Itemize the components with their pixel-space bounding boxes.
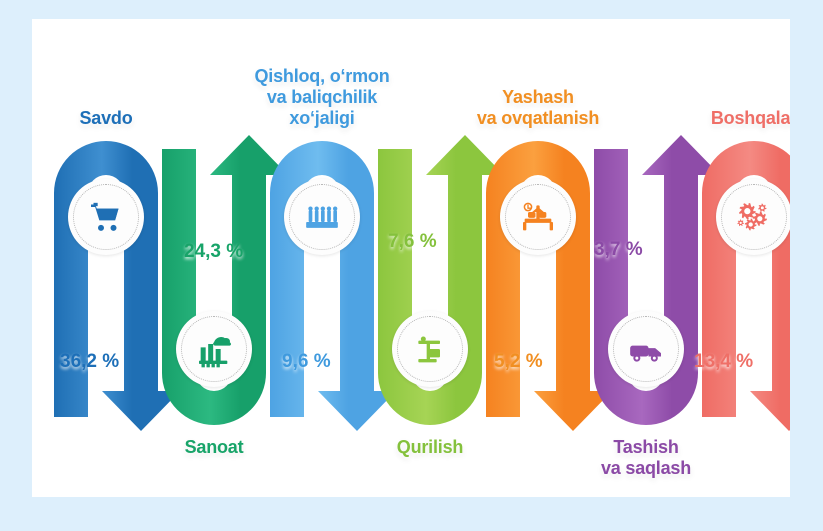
icon-badge-qishloq[interactable] — [284, 179, 360, 255]
section-label-savdo: Savdo — [32, 108, 201, 129]
crops-icon — [302, 197, 342, 237]
pct-boshqalar: 13,4 % — [694, 351, 753, 373]
section-label-yashash: Yashash va ovqatlanish — [443, 87, 633, 129]
icon-badge-boshqalar[interactable] — [716, 179, 790, 255]
infographic-stage: SavdoSanoatQishloq, o‘rmon va baliqchili… — [32, 19, 790, 497]
pct-savdo: 36,2 % — [60, 351, 119, 373]
gears-icon — [734, 197, 774, 237]
section-label-boshqalar: Boshqalar — [659, 108, 790, 129]
infographic-card: SavdoSanoatQishloq, o‘rmon va baliqchili… — [32, 19, 790, 497]
factory-icon — [194, 329, 234, 369]
truck-icon — [626, 329, 666, 369]
pct-yashash: 5,2 % — [494, 351, 543, 373]
icon-badge-savdo[interactable] — [68, 179, 144, 255]
hotel-bed-clock-icon — [518, 197, 558, 237]
section-label-qishloq: Qishloq, o‘rmon va baliqchilik xo‘jaligi — [227, 66, 417, 129]
pct-qurilish: 7,6 % — [388, 231, 437, 253]
icon-badge-sanoat[interactable] — [176, 311, 252, 387]
pct-qishloq: 9,6 % — [282, 351, 331, 373]
icon-badge-yashash[interactable] — [500, 179, 576, 255]
icon-badge-tashish[interactable] — [608, 311, 684, 387]
shopping-cart-icon — [86, 197, 126, 237]
pct-sanoat: 24,3 % — [184, 241, 243, 263]
construction-icon — [410, 329, 450, 369]
icon-badge-qurilish[interactable] — [392, 311, 468, 387]
pct-tashish: 3,7 % — [594, 239, 643, 261]
